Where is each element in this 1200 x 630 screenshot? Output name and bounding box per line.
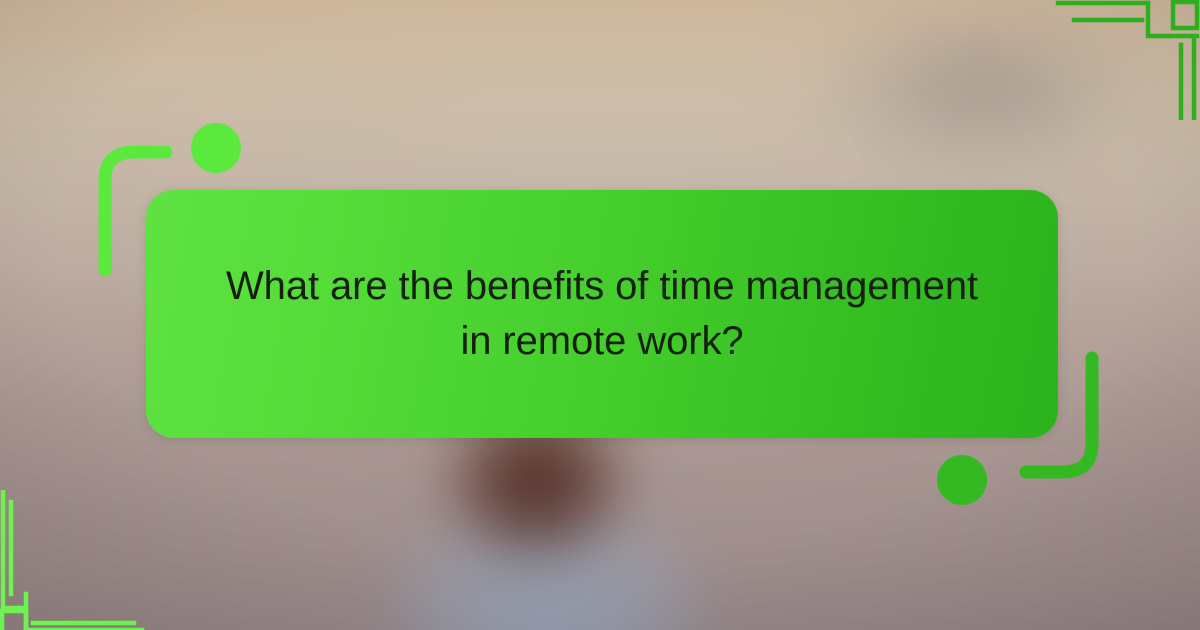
quote-text: What are the benefits of time management… (210, 259, 994, 369)
promo-banner: What are the benefits of time management… (0, 0, 1200, 630)
quote-card: What are the benefits of time management… (146, 190, 1058, 438)
